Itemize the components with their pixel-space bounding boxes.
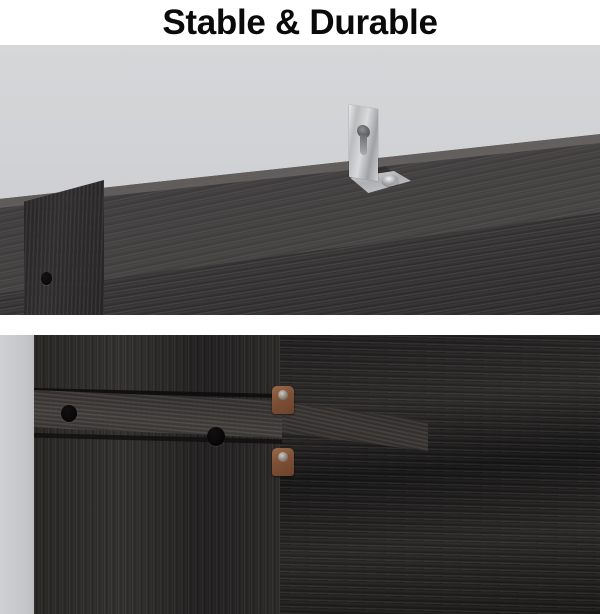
dark-wood-side-board-horizontal-grain bbox=[280, 335, 600, 614]
brown-leather-strap-lower bbox=[272, 448, 294, 476]
product-feature-infographic: Stable & Durable Tipover Resistance Devi… bbox=[0, 0, 600, 614]
strap-screw-icon bbox=[278, 390, 288, 400]
panel-divider-gap bbox=[0, 315, 600, 335]
feature-panel-bottom: Back Reinforcement to meet increased dem… bbox=[0, 335, 600, 614]
cabinet-drill-hole bbox=[41, 272, 52, 285]
rail-drill-hole-right bbox=[207, 427, 225, 446]
rail-drill-hole-left bbox=[61, 405, 77, 422]
feature-panel-top: Tipover Resistance Device Included bbox=[0, 45, 600, 315]
page-title: Stable & Durable bbox=[0, 0, 600, 44]
bracket-mounting-screw bbox=[382, 175, 399, 186]
grey-wall-background bbox=[0, 335, 34, 614]
metal-anti-tip-l-bracket bbox=[349, 107, 413, 195]
strap-screw-icon bbox=[278, 452, 288, 462]
brown-leather-strap-upper bbox=[272, 386, 294, 414]
bracket-slot-channel bbox=[360, 134, 367, 155]
dark-wood-back-board-vertical-grain bbox=[34, 335, 280, 614]
